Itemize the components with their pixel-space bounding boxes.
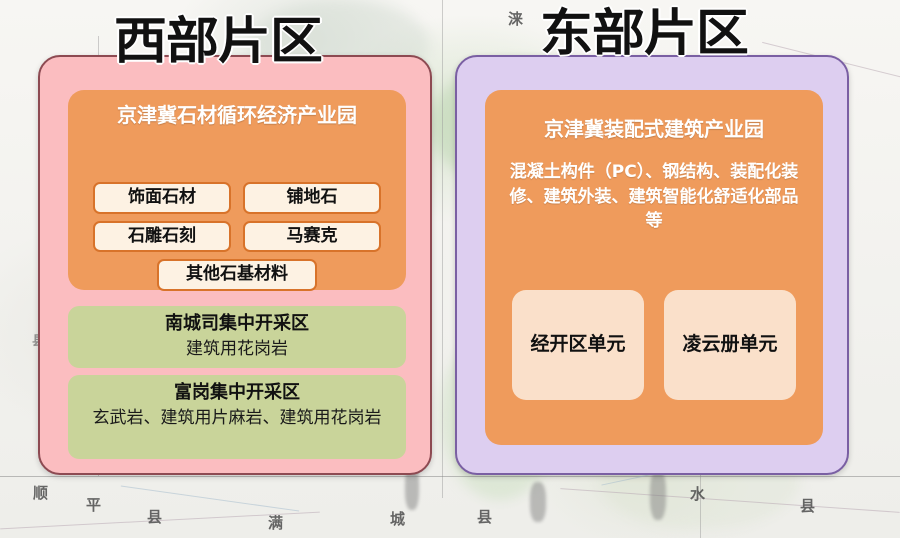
west-industrial-park-card: 京津冀石材循环经济产业园 饰面石材铺地石石雕石刻马赛克其他石基材料 <box>68 90 406 290</box>
east-unit-list: 经开区单元凌云册单元 <box>507 290 801 400</box>
map-place-label: 平 <box>86 494 101 515</box>
mining-zone-subtitle: 玄武岩、建筑用片麻岩、建筑用花岗岩 <box>78 407 396 429</box>
map-boundary-line <box>0 476 900 477</box>
mining-zone-subtitle: 建筑用花岗岩 <box>78 338 396 360</box>
map-boundary-line <box>442 0 443 498</box>
map-place-label: 顺 <box>33 482 48 503</box>
map-place-label: 县 <box>147 506 162 527</box>
product-tag[interactable]: 石雕石刻 <box>93 221 231 253</box>
product-tag[interactable]: 马赛克 <box>243 221 381 253</box>
map-place-label: 县 <box>800 495 815 516</box>
map-place-label: 城 <box>390 508 405 529</box>
map-boundary-line <box>700 470 701 538</box>
east-park-description: 混凝土构件（PC）、钢结构、装配化装修、建筑外装、建筑智能化舒适化部品等 <box>485 142 823 232</box>
mining-zone-card: 富岗集中开采区 玄武岩、建筑用片麻岩、建筑用花岗岩 <box>68 375 406 459</box>
map-place-label: 县 <box>477 506 492 527</box>
west-park-title: 京津冀石材循环经济产业园 <box>68 90 406 128</box>
product-tag[interactable]: 其他石基材料 <box>157 259 317 291</box>
east-industrial-park-card: 京津冀装配式建筑产业园 混凝土构件（PC）、钢结构、装配化装修、建筑外装、建筑智… <box>485 90 823 445</box>
map-place-label: 满 <box>268 512 283 533</box>
product-tag[interactable]: 铺地石 <box>243 182 381 214</box>
map-feature <box>530 482 546 522</box>
park-unit-box[interactable]: 经开区单元 <box>512 290 644 400</box>
mining-zone-card: 南城司集中开采区 建筑用花岗岩 <box>68 306 406 368</box>
west-product-tag-list: 饰面石材铺地石石雕石刻马赛克其他石基材料 <box>82 182 392 298</box>
mining-zone-title: 南城司集中开采区 <box>78 312 396 336</box>
product-tag-row: 石雕石刻马赛克 <box>82 221 392 253</box>
map-feature <box>650 470 666 520</box>
east-area-title: 东部片区 <box>540 8 748 58</box>
mining-zone-title: 富岗集中开采区 <box>78 381 396 405</box>
map-place-label: 水 <box>690 483 705 504</box>
product-tag-row: 其他石基材料 <box>82 259 392 291</box>
park-unit-box[interactable]: 凌云册单元 <box>664 290 796 400</box>
east-area-panel: 京津冀装配式建筑产业园 混凝土构件（PC）、钢结构、装配化装修、建筑外装、建筑智… <box>455 55 849 475</box>
west-area-panel: 京津冀石材循环经济产业园 饰面石材铺地石石雕石刻马赛克其他石基材料 南城司集中开… <box>38 55 432 475</box>
product-tag-row: 饰面石材铺地石 <box>82 182 392 214</box>
east-park-title: 京津冀装配式建筑产业园 <box>485 90 823 142</box>
map-place-label: 涞 <box>508 8 523 29</box>
product-tag[interactable]: 饰面石材 <box>93 182 231 214</box>
west-area-title: 西部片区 <box>114 16 322 66</box>
